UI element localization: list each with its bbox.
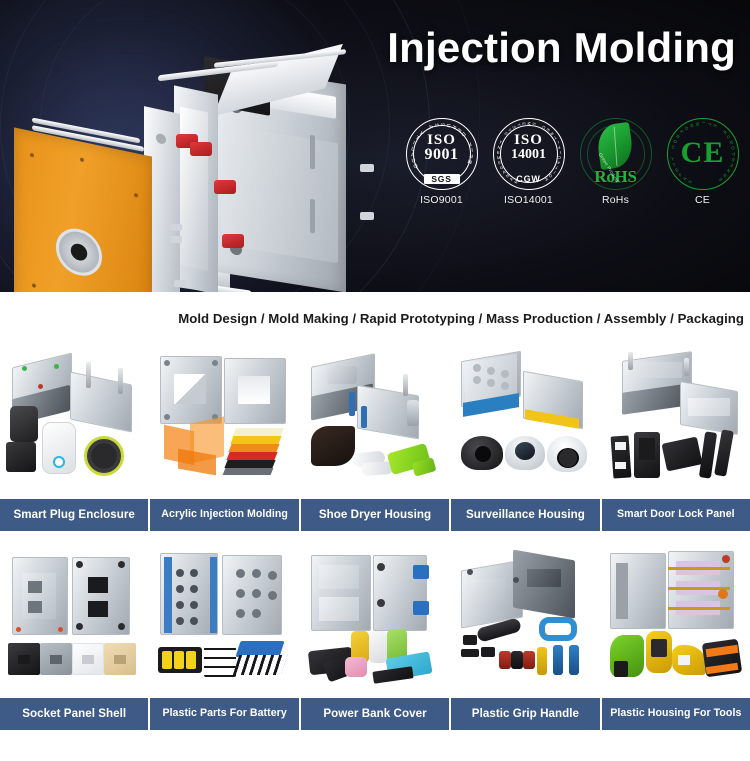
product-caption: Surveillance Housing <box>451 499 599 531</box>
product-card-surveillance-housing[interactable]: Surveillance Housing <box>451 344 599 531</box>
iso9001-icon: ISO 9001 SGS QUALITY ASSURED FIRM <box>406 118 478 190</box>
product-image <box>451 344 599 494</box>
services-bar: Mold Design / Mold Making / Rapid Protot… <box>0 292 750 344</box>
product-caption: Shoe Dryer Housing <box>301 499 449 531</box>
product-row: Socket Panel Shell <box>0 543 750 730</box>
iso14001-icon: ISO 14001 CGW MANAGEMENT SYSTEMS CERTIFI… <box>493 118 565 190</box>
cert-ce: CE SAFETY CONFORMITE EUROPEENNE CE <box>665 118 740 206</box>
product-card-power-bank-cover[interactable]: Power Bank Cover <box>301 543 449 730</box>
badge-ring-text: MANAGEMENT SYSTEMS CERTIFICATION <box>494 119 564 189</box>
certification-badges: ISO 9001 SGS QUALITY ASSURED FIRM ISO900… <box>404 118 740 206</box>
product-caption: Plastic Grip Handle <box>451 698 599 730</box>
services-text: Mold Design / Mold Making / Rapid Protot… <box>178 311 750 326</box>
product-caption: Acrylic Injection Molding <box>150 499 298 531</box>
cert-iso14001: ISO 14001 CGW MANAGEMENT SYSTEMS CERTIFI… <box>491 118 566 206</box>
product-caption: Power Bank Cover <box>301 698 449 730</box>
product-card-shoe-dryer-housing[interactable]: Shoe Dryer Housing <box>301 344 449 531</box>
cert-rohs: RoHS Green Product RoHs <box>578 118 653 206</box>
badge-ring-text: SAFETY CONFORMITE EUROPEENNE <box>668 119 738 189</box>
product-image <box>150 344 298 494</box>
product-image <box>150 543 298 693</box>
cert-label: ISO14001 <box>491 194 566 206</box>
product-image <box>0 543 148 693</box>
product-caption: Plastic Parts For Battery <box>150 698 298 730</box>
cert-iso9001: ISO 9001 SGS QUALITY ASSURED FIRM ISO900… <box>404 118 479 206</box>
product-card-smart-door-lock-panel[interactable]: Smart Door Lock Panel <box>602 344 750 531</box>
product-image <box>301 344 449 494</box>
product-grid: Smart Plug Enclosure <box>0 344 750 730</box>
hero-mold-image <box>8 52 398 292</box>
product-image <box>301 543 449 693</box>
product-row: Smart Plug Enclosure <box>0 344 750 531</box>
hero-section: Injection Molding ISO 9001 SGS QUALITY A… <box>0 0 750 292</box>
product-image <box>602 344 750 494</box>
page-title: Injection Molding <box>387 24 736 72</box>
injection-molding-banner: Injection Molding ISO 9001 SGS QUALITY A… <box>0 0 750 761</box>
product-image <box>451 543 599 693</box>
product-caption: Plastic Housing For Tools <box>602 698 750 730</box>
badge-ring-text: QUALITY ASSURED FIRM <box>407 119 477 189</box>
product-image <box>602 543 750 693</box>
product-caption: Socket Panel Shell <box>0 698 148 730</box>
product-caption: Smart Plug Enclosure <box>0 499 148 531</box>
cert-label: RoHs <box>578 194 653 206</box>
product-card-plastic-grip-handle[interactable]: Plastic Grip Handle <box>451 543 599 730</box>
cert-label: CE <box>665 194 740 206</box>
product-caption: Smart Door Lock Panel <box>602 499 750 531</box>
product-image <box>0 344 148 494</box>
product-card-socket-panel-shell[interactable]: Socket Panel Shell <box>0 543 148 730</box>
product-card-smart-plug-enclosure[interactable]: Smart Plug Enclosure <box>0 344 148 531</box>
product-card-acrylic-injection-molding[interactable]: Acrylic Injection Molding <box>150 344 298 531</box>
rohs-leaf-icon: RoHS Green Product <box>580 118 652 190</box>
product-card-plastic-parts-for-battery[interactable]: Plastic Parts For Battery <box>150 543 298 730</box>
ce-icon: CE SAFETY CONFORMITE EUROPEENNE <box>667 118 739 190</box>
product-card-plastic-housing-for-tools[interactable]: Plastic Housing For Tools <box>602 543 750 730</box>
cert-label: ISO9001 <box>404 194 479 206</box>
